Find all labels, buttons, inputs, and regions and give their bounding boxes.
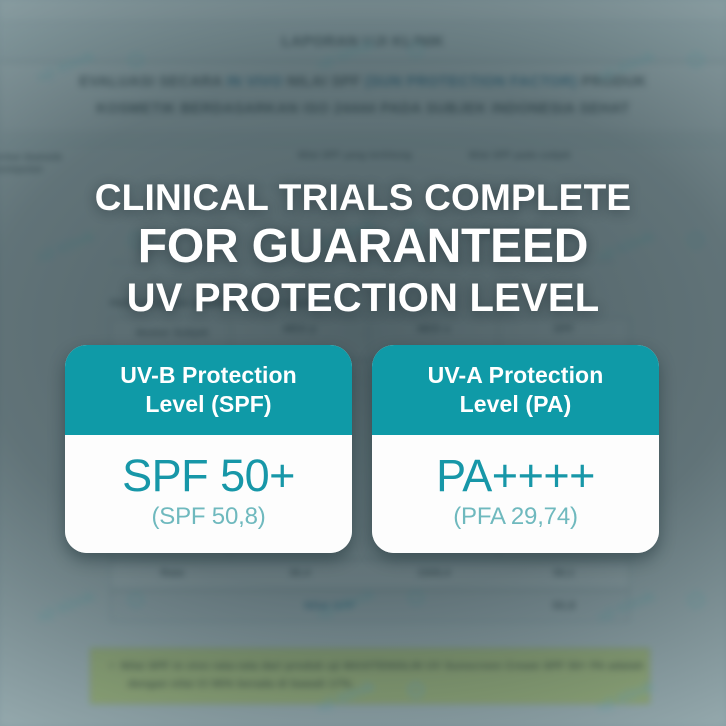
headline-line-1: CLINICAL TRIALS COMPLETE	[0, 175, 726, 221]
card-uva-header-text: UV-A Protection Level (PA)	[428, 361, 604, 419]
card-uvb-header-line1: UV-B Protection	[120, 362, 297, 388]
poster-canvas: LAPORAN UJI KLINIK EVALUASI SECARA IN VI…	[0, 0, 726, 726]
card-uva-subvalue: (PFA 29,74)	[453, 503, 578, 531]
headline-line-2: FOR GUARANTEED	[0, 221, 726, 273]
card-uva-value: PA++++	[436, 451, 595, 501]
card-uva-header-line1: UV-A Protection	[428, 362, 604, 388]
card-uva-header: UV-A Protection Level (PA)	[372, 345, 659, 435]
card-uvb-body: SPF 50+ (SPF 50,8)	[65, 435, 352, 553]
card-uva-body: PA++++ (PFA 29,74)	[372, 435, 659, 553]
card-uvb-header-line2: Level (SPF)	[145, 391, 271, 417]
card-uvb-protection[interactable]: UV-B Protection Level (SPF) SPF 50+ (SPF…	[65, 345, 352, 553]
protection-cards: UV-B Protection Level (SPF) SPF 50+ (SPF…	[65, 345, 659, 553]
headline-line-3: UV PROTECTION LEVEL	[0, 273, 726, 323]
card-uvb-header-text: UV-B Protection Level (SPF)	[120, 361, 297, 419]
card-uvb-subvalue: (SPF 50,8)	[151, 503, 265, 531]
headline-block: CLINICAL TRIALS COMPLETE FOR GUARANTEED …	[0, 175, 726, 323]
card-uvb-value: SPF 50+	[122, 451, 295, 501]
card-uvb-header: UV-B Protection Level (SPF)	[65, 345, 352, 435]
card-uva-header-line2: Level (PA)	[460, 391, 572, 417]
card-uva-protection[interactable]: UV-A Protection Level (PA) PA++++ (PFA 2…	[372, 345, 659, 553]
